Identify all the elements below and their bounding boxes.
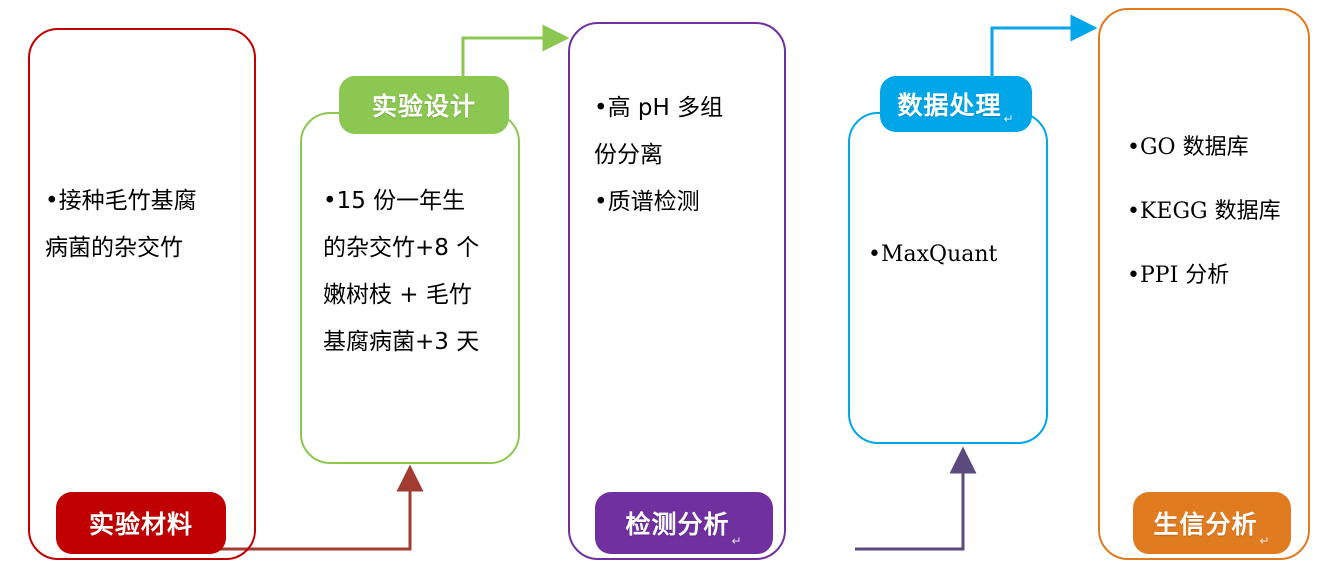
- stage-body-detection: •高 pH 多组 份分离 •质谱检测: [594, 85, 780, 226]
- stage-label-design[interactable]: 实验设计: [339, 76, 509, 134]
- pilcrow-icon: ↵: [1003, 112, 1014, 126]
- stage-label-design-text: 实验设计: [372, 87, 476, 123]
- stage-label-materials[interactable]: 实验材料: [56, 492, 226, 554]
- stage-label-bioinformatics[interactable]: 生信分析 ↵: [1133, 492, 1291, 554]
- stage-label-processing-text: 数据处理: [897, 86, 1001, 122]
- stage-body-processing: •MaxQuant: [868, 232, 1044, 277]
- stage-label-detection-text: 检测分析: [625, 505, 729, 541]
- stage-box-processing[interactable]: [848, 112, 1048, 444]
- stage-body-bioinformatics: •GO 数据库 •KEGG 数据库 •PPI 分析: [1127, 132, 1313, 291]
- stage-body-design: •15 份一年生 的杂交竹+8 个 嫩树枝 + 毛竹 基腐病菌+3 天: [323, 178, 513, 367]
- connector-detection-to-processing: [855, 460, 963, 549]
- stage-label-bioinformatics-text: 生信分析: [1153, 505, 1257, 541]
- pilcrow-icon: ↵: [731, 534, 742, 548]
- flowchart-canvas: •接种毛竹基腐 病菌的杂交竹 实验材料 •15 份一年生 的杂交竹+8 个 嫩树…: [0, 0, 1324, 568]
- stage-label-detection[interactable]: 检测分析 ↵: [595, 492, 773, 554]
- stage-box-materials[interactable]: [28, 28, 256, 560]
- stage-label-processing[interactable]: 数据处理 ↵: [880, 76, 1032, 132]
- stage-body-materials: •接种毛竹基腐 病菌的杂交竹: [45, 178, 245, 272]
- pilcrow-icon: ↵: [1259, 534, 1270, 548]
- stage-label-materials-text: 实验材料: [89, 505, 193, 541]
